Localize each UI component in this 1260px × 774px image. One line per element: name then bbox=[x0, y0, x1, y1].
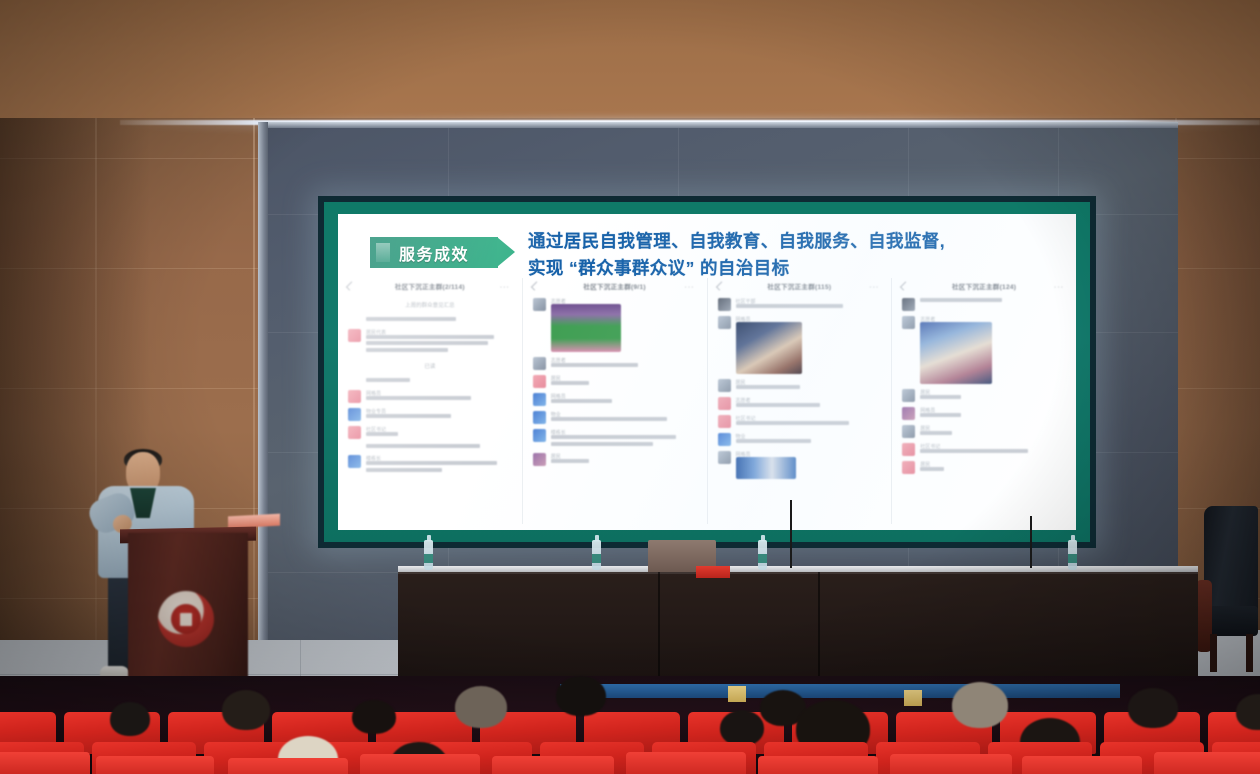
audience-head bbox=[222, 690, 270, 730]
water-bottle bbox=[592, 540, 601, 570]
chat-column: 社区下沉正主群(2/114)···上周的群众意见汇总居民代表已读网格员物业专员社… bbox=[338, 278, 523, 524]
chat-column: 社区下沉正主群(115)···社区干部网格员居民志愿者社区书记物业网格员 bbox=[708, 278, 893, 524]
chat-message: 社区书记 bbox=[902, 443, 1066, 456]
chat-message: 物业 bbox=[718, 433, 882, 446]
chat-photo-attachment bbox=[736, 322, 802, 374]
chat-avatar bbox=[718, 379, 731, 392]
chat-text-line bbox=[366, 378, 410, 382]
chat-avatar bbox=[533, 429, 546, 442]
chat-message-body: 社区书记 bbox=[736, 415, 882, 428]
auditorium-seat bbox=[492, 756, 614, 774]
auditorium-seat bbox=[360, 754, 480, 774]
chat-text-line bbox=[366, 468, 442, 472]
chat-sender-name: 居民 bbox=[920, 425, 1066, 429]
chat-message-body: 居民代表 bbox=[366, 329, 512, 355]
chat-message-body: 社区书记 bbox=[366, 426, 512, 439]
chat-avatar bbox=[533, 411, 546, 424]
chat-message-body: 志愿者 bbox=[920, 316, 1066, 384]
screen-surface: 服务成效 通过居民自我管理、自我教育、自我服务、自我监督, 实现 “群众事群众议… bbox=[338, 214, 1076, 530]
chat-photo-attachment bbox=[920, 322, 992, 384]
chat-column-header: 社区下沉正主群(124)··· bbox=[898, 278, 1070, 293]
chat-message-body bbox=[366, 378, 512, 385]
leather-armchair bbox=[1196, 506, 1258, 676]
chat-text-line bbox=[366, 432, 398, 436]
chat-avatar bbox=[718, 433, 731, 446]
chat-avatar bbox=[902, 461, 915, 474]
chat-message-body: 物业 bbox=[551, 411, 697, 424]
auditorium-seat bbox=[890, 754, 1012, 774]
chat-text-line bbox=[366, 461, 497, 465]
audience-head bbox=[455, 686, 507, 728]
chat-message: 网格员 bbox=[348, 390, 512, 403]
armchair-backrest bbox=[1204, 506, 1258, 614]
chat-message-body: 物业 bbox=[736, 433, 882, 446]
chat-avatar bbox=[348, 455, 361, 468]
chat-avatar bbox=[348, 329, 361, 342]
chat-text-line bbox=[366, 335, 494, 339]
section-tag-label: 服务成效 bbox=[399, 241, 469, 265]
chat-sender-name: 社区书记 bbox=[920, 443, 1066, 447]
chat-message: 志愿者 bbox=[533, 357, 697, 370]
chat-message bbox=[902, 298, 1066, 311]
auditorium-seat bbox=[0, 752, 90, 774]
chat-column-header: 社区下沉正主群(2/114)··· bbox=[344, 278, 516, 293]
back-arrow-icon bbox=[346, 281, 355, 290]
chat-text-line bbox=[551, 435, 676, 439]
chat-text-line bbox=[366, 341, 488, 345]
stage-front-edge bbox=[560, 684, 1120, 698]
chat-message: 志愿者 bbox=[902, 316, 1066, 384]
chat-text-line bbox=[920, 467, 943, 471]
chat-avatar bbox=[902, 298, 915, 311]
chat-sender-name: 志愿者 bbox=[920, 316, 1066, 320]
chat-message: 物业专员 bbox=[348, 408, 512, 421]
chat-sender-name: 物业 bbox=[551, 411, 697, 415]
chat-sender-name: 网格员 bbox=[736, 316, 882, 320]
chat-column-header: 社区下沉正主群(115)··· bbox=[714, 278, 886, 293]
water-bottle bbox=[758, 540, 767, 570]
chat-text-line bbox=[736, 403, 821, 407]
chat-avatar bbox=[902, 316, 915, 329]
chat-message bbox=[348, 444, 512, 451]
chat-message: 社区干部 bbox=[718, 298, 882, 311]
chat-message: 居民 bbox=[718, 379, 882, 392]
chat-text-line bbox=[366, 348, 448, 352]
chat-sender-name: 居民 bbox=[551, 375, 697, 379]
seal-inner-disc bbox=[171, 604, 201, 634]
back-arrow-icon bbox=[900, 281, 909, 290]
chat-message-body: 网格员 bbox=[366, 390, 512, 403]
chat-text-line bbox=[736, 421, 850, 425]
chat-message: 楼栋长 bbox=[348, 455, 512, 474]
chat-message: 居民 bbox=[902, 389, 1066, 402]
auditorium-seat bbox=[96, 756, 214, 774]
chat-avatar bbox=[533, 298, 546, 311]
chat-message-body: 楼栋长 bbox=[366, 455, 512, 474]
chat-message-body: 志愿者 bbox=[736, 397, 882, 410]
chat-photo-attachment bbox=[736, 457, 796, 479]
auditorium-seat bbox=[758, 756, 878, 774]
audience-head bbox=[952, 682, 1008, 728]
chat-avatar bbox=[718, 451, 731, 464]
chat-message: 物业 bbox=[533, 411, 697, 424]
desk-nameplate bbox=[696, 566, 730, 578]
chat-message: 网格员 bbox=[718, 316, 882, 374]
chat-text-line bbox=[920, 413, 961, 417]
presentation-slide: 服务成效 通过居民自我管理、自我教育、自我服务、自我监督, 实现 “群众事群众议… bbox=[338, 214, 1076, 530]
chat-avatar bbox=[533, 357, 546, 370]
podium bbox=[128, 533, 248, 681]
chat-sender-name: 居民 bbox=[920, 461, 1066, 465]
chat-message: 社区书记 bbox=[718, 415, 882, 428]
chat-text-line bbox=[736, 385, 800, 389]
chat-sender-name: 物业 bbox=[736, 433, 882, 437]
chat-text-line bbox=[551, 399, 612, 403]
chat-message-body: 居民 bbox=[920, 389, 1066, 402]
chat-avatar bbox=[902, 407, 915, 420]
chat-message: 志愿者 bbox=[718, 397, 882, 410]
slide-title: 通过居民自我管理、自我教育、自我服务、自我监督, 实现 “群众事群众议” 的自治… bbox=[528, 228, 1058, 281]
chat-title: 社区下沉正主群(115) bbox=[767, 281, 831, 291]
auditorium-seat bbox=[1154, 752, 1260, 774]
chat-message: 居民 bbox=[902, 461, 1066, 474]
chat-avatar bbox=[718, 298, 731, 311]
chat-sender-name: 志愿者 bbox=[551, 357, 697, 361]
chat-sender-name: 社区干部 bbox=[736, 298, 882, 302]
chat-sender-name: 网格员 bbox=[920, 407, 1066, 411]
chat-text-line bbox=[366, 396, 471, 400]
auditorium-seat bbox=[228, 758, 348, 774]
slide-header: 服务成效 通过居民自我管理、自我教育、自我服务、自我监督, 实现 “群众事群众议… bbox=[338, 222, 1076, 280]
chat-message: 网格员 bbox=[718, 451, 882, 479]
chat-avatar bbox=[348, 426, 361, 439]
chat-sender-name: 楼栋长 bbox=[366, 455, 512, 459]
auditorium-seat bbox=[1022, 756, 1142, 774]
chat-message-body bbox=[366, 317, 512, 324]
conference-table bbox=[398, 572, 1198, 680]
chat-message-body: 网格员 bbox=[920, 407, 1066, 420]
more-options-icon: ··· bbox=[685, 284, 695, 291]
university-seal-icon bbox=[158, 591, 214, 647]
chat-sender-name: 社区书记 bbox=[736, 415, 882, 419]
chat-sender-name: 社区书记 bbox=[366, 426, 512, 430]
chat-sender-name: 网格员 bbox=[736, 451, 882, 455]
screen-frame: 服务成效 通过居民自我管理、自我教育、自我服务、自我监督, 实现 “群众事群众议… bbox=[324, 202, 1090, 542]
chat-avatar bbox=[718, 415, 731, 428]
chat-message-body: 居民 bbox=[736, 379, 882, 392]
chat-message-body: 居民 bbox=[551, 375, 697, 388]
chat-sender-name: 志愿者 bbox=[551, 298, 697, 302]
chat-text-line bbox=[920, 431, 952, 435]
audience-head bbox=[110, 702, 150, 736]
chat-sender-name: 居民 bbox=[920, 389, 1066, 393]
upper-wall-panel bbox=[0, 0, 1260, 122]
chat-avatar bbox=[348, 390, 361, 403]
water-bottle bbox=[1068, 540, 1077, 570]
chat-avatar bbox=[533, 393, 546, 406]
chat-text-line bbox=[551, 363, 638, 367]
chat-message-body: 志愿者 bbox=[551, 298, 697, 352]
chat-text-line bbox=[920, 298, 1002, 302]
chat-photo-attachment bbox=[551, 304, 621, 352]
chat-text-line bbox=[920, 449, 1028, 453]
chat-avatar bbox=[533, 453, 546, 466]
audience-head bbox=[720, 710, 764, 746]
chat-avatar bbox=[718, 397, 731, 410]
chat-column: 社区下沉正主群(9/1)···志愿者志愿者居民网格员物业楼栋长居民 bbox=[523, 278, 708, 524]
chat-message: 网格员 bbox=[533, 393, 697, 406]
chat-sender-name: 居民 bbox=[551, 453, 697, 457]
chat-sender-name: 网格员 bbox=[366, 390, 512, 394]
chat-avatar bbox=[533, 375, 546, 388]
seat-number-card bbox=[904, 690, 922, 706]
chat-message-body bbox=[366, 444, 512, 451]
chat-sender-name: 志愿者 bbox=[736, 397, 882, 401]
chat-message: 网格员 bbox=[902, 407, 1066, 420]
chat-message-body: 社区书记 bbox=[920, 443, 1066, 456]
chat-avatar bbox=[902, 425, 915, 438]
chat-message: 居民 bbox=[902, 425, 1066, 438]
chat-sender-name: 物业专员 bbox=[366, 408, 512, 412]
microphone-stem bbox=[1030, 516, 1032, 568]
chat-avatar bbox=[718, 316, 731, 329]
chat-screenshot-columns: 社区下沉正主群(2/114)···上周的群众意见汇总居民代表已读网格员物业专员社… bbox=[338, 278, 1076, 524]
backdrop-top-edge bbox=[258, 122, 1178, 128]
slide-title-line-1: 通过居民自我管理、自我教育、自我服务、自我监督, bbox=[528, 228, 1058, 255]
chat-message-body: 志愿者 bbox=[551, 357, 697, 370]
chat-avatar bbox=[902, 389, 915, 402]
water-bottle bbox=[424, 540, 433, 570]
auditorium-seat bbox=[626, 752, 746, 774]
chat-text-line bbox=[551, 417, 668, 421]
chat-text-line bbox=[366, 444, 480, 448]
chat-message: 居民代表 bbox=[348, 329, 512, 355]
chat-title: 社区下沉正主群(124) bbox=[952, 281, 1016, 291]
chat-title: 社区下沉正主群(9/1) bbox=[583, 281, 645, 291]
back-arrow-icon bbox=[531, 281, 540, 290]
chat-message-body: 居民 bbox=[920, 461, 1066, 474]
chat-text-line bbox=[736, 439, 812, 443]
section-tag-badge: 服务成效 bbox=[370, 237, 498, 268]
chat-text-line bbox=[551, 442, 653, 446]
audience-head bbox=[556, 676, 606, 716]
more-options-icon: ··· bbox=[869, 284, 879, 291]
chat-message-body: 社区干部 bbox=[736, 298, 882, 311]
chat-message: 社区书记 bbox=[348, 426, 512, 439]
chat-message-body: 居民 bbox=[920, 425, 1066, 438]
chat-text-line bbox=[366, 414, 451, 418]
chat-message-body bbox=[920, 298, 1066, 311]
chat-text-line bbox=[551, 459, 589, 463]
chat-text-line bbox=[551, 381, 589, 385]
chat-sender-name: 网格员 bbox=[551, 393, 697, 397]
chat-title: 社区下沉正主群(2/114) bbox=[395, 281, 465, 291]
backdrop-left-edge bbox=[258, 122, 268, 674]
projection-screen: 服务成效 通过居民自我管理、自我教育、自我服务、自我监督, 实现 “群众事群众议… bbox=[318, 196, 1096, 548]
chat-sender-name: 楼栋长 bbox=[551, 429, 697, 433]
chat-message: 居民 bbox=[533, 375, 697, 388]
more-options-icon: ··· bbox=[1054, 284, 1064, 291]
chat-system-note: 上周的群众意见汇总 bbox=[344, 301, 516, 309]
audience-head bbox=[1128, 688, 1178, 728]
seal-book-icon bbox=[180, 613, 192, 626]
chat-column-header: 社区下沉正主群(9/1)··· bbox=[529, 278, 701, 293]
chat-message-body: 楼栋长 bbox=[551, 429, 697, 448]
chat-message: 志愿者 bbox=[533, 298, 697, 352]
chat-avatar bbox=[348, 408, 361, 421]
auditorium-photo: 服务成效 通过居民自我管理、自我教育、自我服务、自我监督, 实现 “群众事群众议… bbox=[0, 0, 1260, 774]
chat-message bbox=[348, 378, 512, 385]
microphone-stem bbox=[790, 500, 792, 568]
chat-avatar bbox=[902, 443, 915, 456]
seat-number-card bbox=[728, 686, 746, 702]
chat-text-line bbox=[736, 304, 844, 308]
more-options-icon: ··· bbox=[500, 284, 510, 291]
chat-message-body: 网格员 bbox=[736, 451, 882, 479]
chat-column: 社区下沉正主群(124)···志愿者居民网格员居民社区书记居民 bbox=[892, 278, 1076, 524]
chat-message bbox=[348, 317, 512, 324]
chat-message: 楼栋长 bbox=[533, 429, 697, 448]
chat-message-body: 物业专员 bbox=[366, 408, 512, 421]
chat-sender-name: 居民 bbox=[736, 379, 882, 383]
chat-text-line bbox=[920, 395, 961, 399]
back-arrow-icon bbox=[715, 281, 724, 290]
chat-system-note: 已读 bbox=[344, 362, 516, 370]
chat-text-line bbox=[366, 317, 456, 321]
chat-message-body: 网格员 bbox=[551, 393, 697, 406]
chat-sender-name: 居民代表 bbox=[366, 329, 512, 333]
chat-message: 居民 bbox=[533, 453, 697, 466]
chat-message-body: 居民 bbox=[551, 453, 697, 466]
tag-stripe-decoration bbox=[376, 243, 390, 262]
audience-head bbox=[352, 700, 396, 734]
chat-message-body: 网格员 bbox=[736, 316, 882, 374]
